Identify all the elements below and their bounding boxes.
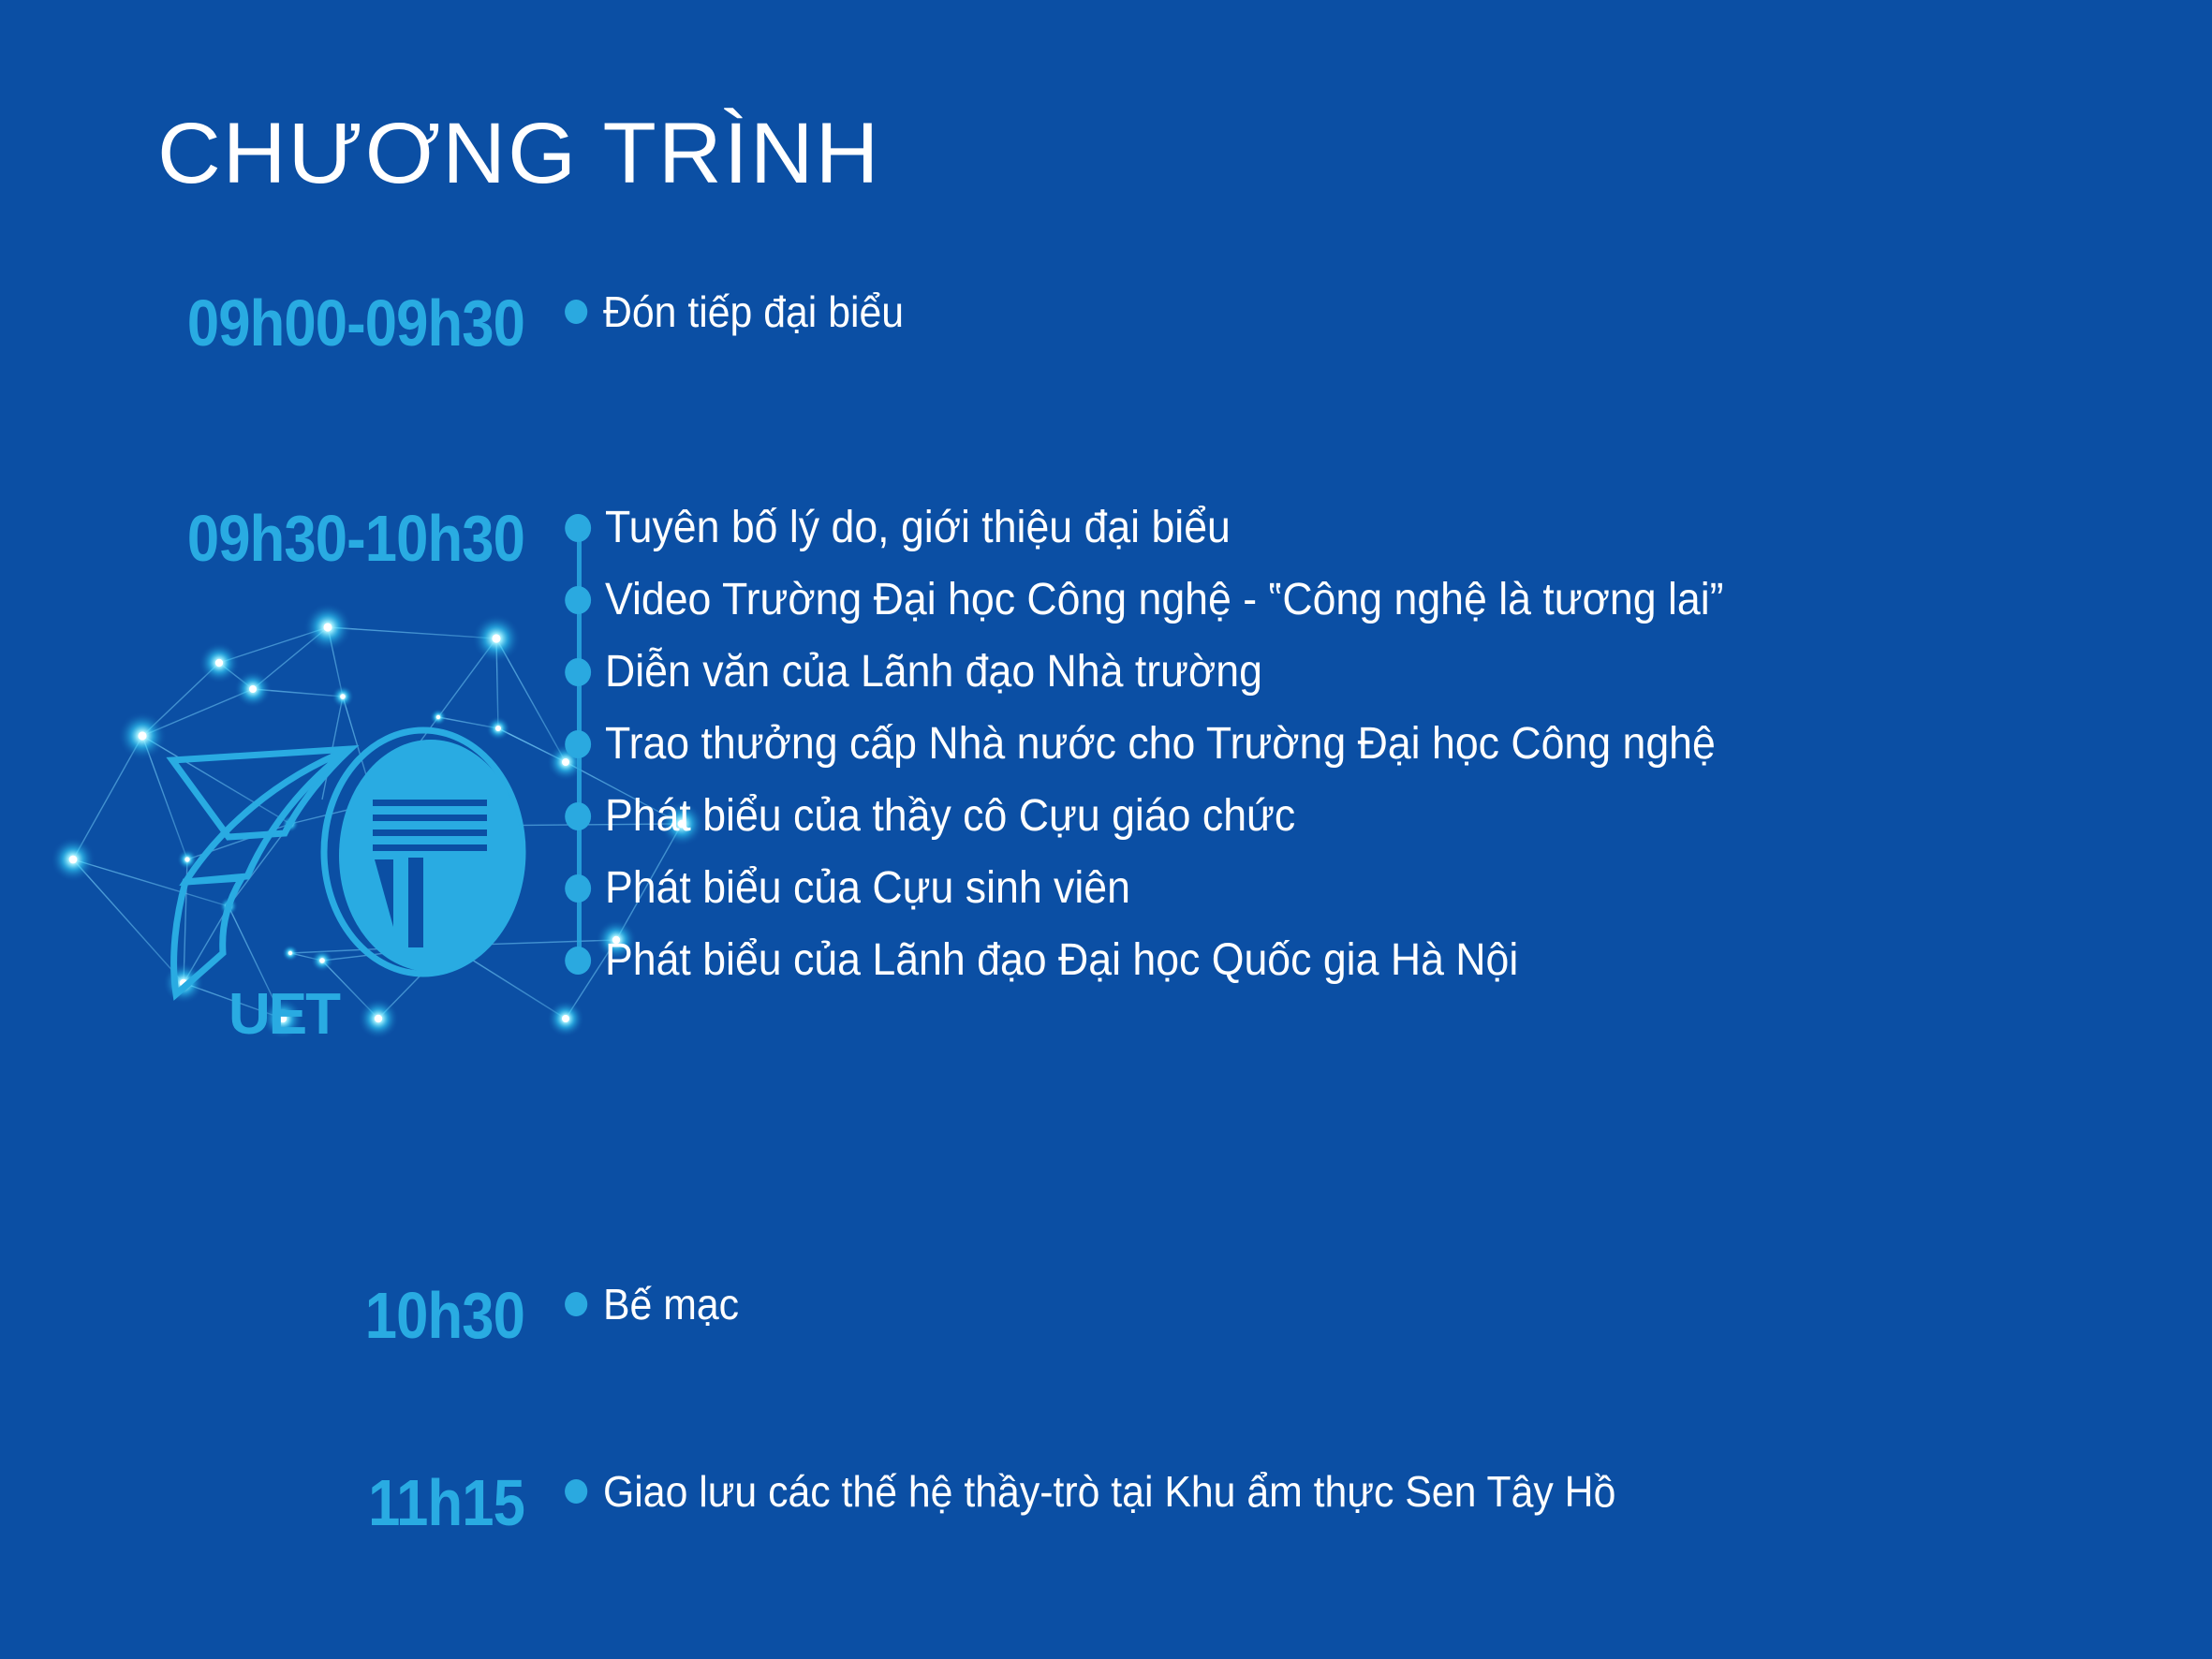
schedule-item-label: Tuyên bố lý do, giới thiệu đại biểu [605,506,1231,551]
bullet-dot-icon [565,874,591,903]
schedule-row: 10h30Bế mạc [0,1283,749,1348]
schedule-row: 11h15Giao lưu các thế hệ thầy-trò tại Kh… [0,1470,1692,1535]
schedule-item-label: Trao thưởng cấp Nhà nước cho Trường Đại … [605,722,1716,767]
schedule-item-label: Phát biểu của Lãnh đạo Đại học Quốc gia … [605,938,1518,983]
bullet-dot-icon [565,300,587,324]
schedule-items: Giao lưu các thế hệ thầy-trò tại Khu ẩm … [562,1470,1692,1513]
schedule-time: 10h30 [63,1283,524,1348]
schedule-items: Tuyên bố lý do, giới thiệu đại biểuVideo… [562,506,1807,983]
schedule-item: Tuyên bố lý do, giới thiệu đại biểu [605,506,1723,551]
bullet-dot-icon [565,658,591,686]
presentation-slide: CHƯƠNG TRÌNH [0,0,2212,1659]
schedule-time: 09h30-10h30 [63,506,524,571]
schedule-item: Giao lưu các thế hệ thầy-trò tại Khu ẩm … [603,1470,1615,1513]
bullet-dot-icon [565,1479,587,1504]
schedule-item-label: Đón tiếp đại biểu [603,290,904,333]
schedule-item: Diễn văn của Lãnh đạo Nhà trường [605,650,1723,695]
bullet-dot-icon [565,730,591,758]
schedule-items: Bế mạc [562,1283,749,1326]
schedule-item-label: Bế mạc [603,1283,739,1326]
schedule-item-label: Diễn văn của Lãnh đạo Nhà trường [605,650,1262,695]
schedule-items: Đón tiếp đại biểu [562,290,926,333]
schedule-item-label: Giao lưu các thế hệ thầy-trò tại Khu ẩm … [603,1470,1615,1513]
bullet-dot-icon [565,947,591,975]
bullet-dot-icon [565,802,591,830]
schedule-time: 09h00-09h30 [63,290,524,356]
schedule-row: 09h00-09h30Đón tiếp đại biểu [0,290,926,356]
schedule-item-label: Phát biểu của thầy cô Cựu giáo chức [605,794,1295,839]
schedule-item-label: Phát biểu của Cựu sinh viên [605,866,1130,911]
schedule-item: Video Trường Đại học Công nghệ - ‟Công n… [605,578,1723,623]
schedule-row: 09h30-10h30Tuyên bố lý do, giới thiệu đạ… [0,506,1807,983]
schedule-item-label: Video Trường Đại học Công nghệ - ‟Công n… [605,578,1723,623]
schedule-item: Phát biểu của thầy cô Cựu giáo chức [605,794,1723,839]
schedule-item: Phát biểu của Lãnh đạo Đại học Quốc gia … [605,938,1723,983]
bullet-dot-icon [565,514,591,542]
bullet-dot-icon [565,586,591,614]
bullet-dot-icon [565,1292,587,1316]
page-title: CHƯƠNG TRÌNH [157,110,880,197]
schedule-time: 11h15 [63,1470,524,1535]
schedule-item: Đón tiếp đại biểu [603,290,904,333]
schedule-item: Phát biểu của Cựu sinh viên [605,866,1723,911]
logo-uet-text: UET [229,982,341,1047]
schedule-item: Bế mạc [603,1283,739,1326]
schedule-item: Trao thưởng cấp Nhà nước cho Trường Đại … [605,722,1723,767]
